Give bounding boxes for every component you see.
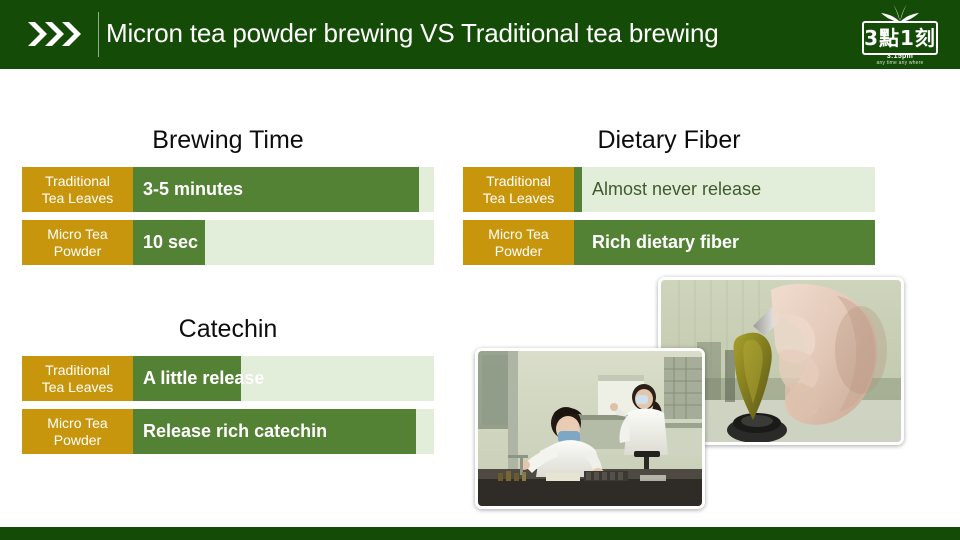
row-label-line2: Tea Leaves	[483, 190, 555, 207]
row-label-line1: Micro Tea	[488, 226, 548, 243]
row-label-traditional: Traditional Tea Leaves	[463, 167, 574, 212]
row-label-micro: Micro Tea Powder	[22, 220, 133, 265]
brand-logo: 3點1刻 3:15pm any time any where	[854, 3, 946, 65]
row-label-line1: Micro Tea	[47, 226, 107, 243]
panel-dietary-fiber: Dietary Fiber Traditional Tea Leaves Alm…	[463, 126, 875, 265]
panel-title-dietary-fiber: Dietary Fiber	[463, 126, 875, 155]
row-value: A little release	[133, 356, 352, 401]
row-value: 10 sec	[133, 220, 198, 265]
row-label-micro: Micro Tea Powder	[22, 409, 133, 454]
photo-laboratory-researchers	[475, 348, 705, 509]
row-value: Release rich catechin	[133, 409, 327, 454]
comparison-row: Traditional Tea Leaves 3-5 minutes	[22, 167, 434, 212]
slide-canvas: Micron tea powder brewing VS Traditional…	[0, 0, 960, 540]
logo-subtitle: 3:15pm	[854, 53, 946, 60]
row-label-line2: Powder	[54, 243, 101, 260]
row-label-line1: Traditional	[45, 173, 110, 190]
row-label-line1: Traditional	[486, 173, 551, 190]
triple-chevron-right-icon	[28, 19, 90, 49]
slide-header: Micron tea powder brewing VS Traditional…	[0, 0, 960, 69]
comparison-row: Micro Tea Powder Release rich catechin	[22, 409, 434, 454]
page-title: Micron tea powder brewing VS Traditional…	[106, 18, 718, 49]
panel-catechin: Catechin Traditional Tea Leaves A little…	[22, 315, 434, 454]
comparison-row: Micro Tea Powder Rich dietary fiber	[463, 220, 875, 265]
row-label-micro: Micro Tea Powder	[463, 220, 574, 265]
row-label-line1: Traditional	[45, 362, 110, 379]
row-label-line2: Powder	[495, 243, 542, 260]
slide-footer	[0, 527, 960, 540]
panel-title-brewing-time: Brewing Time	[22, 126, 434, 155]
panel-brewing-time: Brewing Time Traditional Tea Leaves 3-5 …	[22, 126, 434, 265]
panel-title-catechin: Catechin	[22, 315, 434, 344]
row-value: 3-5 minutes	[133, 167, 243, 212]
row-label-traditional: Traditional Tea Leaves	[22, 356, 133, 401]
row-label-line2: Tea Leaves	[42, 379, 114, 396]
header-divider	[98, 12, 99, 57]
row-label-line2: Tea Leaves	[42, 190, 114, 207]
row-value: Rich dietary fiber	[574, 220, 739, 265]
logo-cjk-text: 3點1刻	[854, 22, 946, 54]
row-value: Almost never release	[574, 167, 761, 212]
comparison-row: Traditional Tea Leaves A little release …	[22, 356, 434, 401]
logo-tagline: any time any where	[854, 60, 946, 66]
comparison-row: Traditional Tea Leaves Almost never rele…	[463, 167, 875, 212]
row-label-traditional: Traditional Tea Leaves	[22, 167, 133, 212]
comparison-row: Micro Tea Powder 10 sec	[22, 220, 434, 265]
row-label-line2: Powder	[54, 432, 101, 449]
row-label-line1: Micro Tea	[47, 415, 107, 432]
